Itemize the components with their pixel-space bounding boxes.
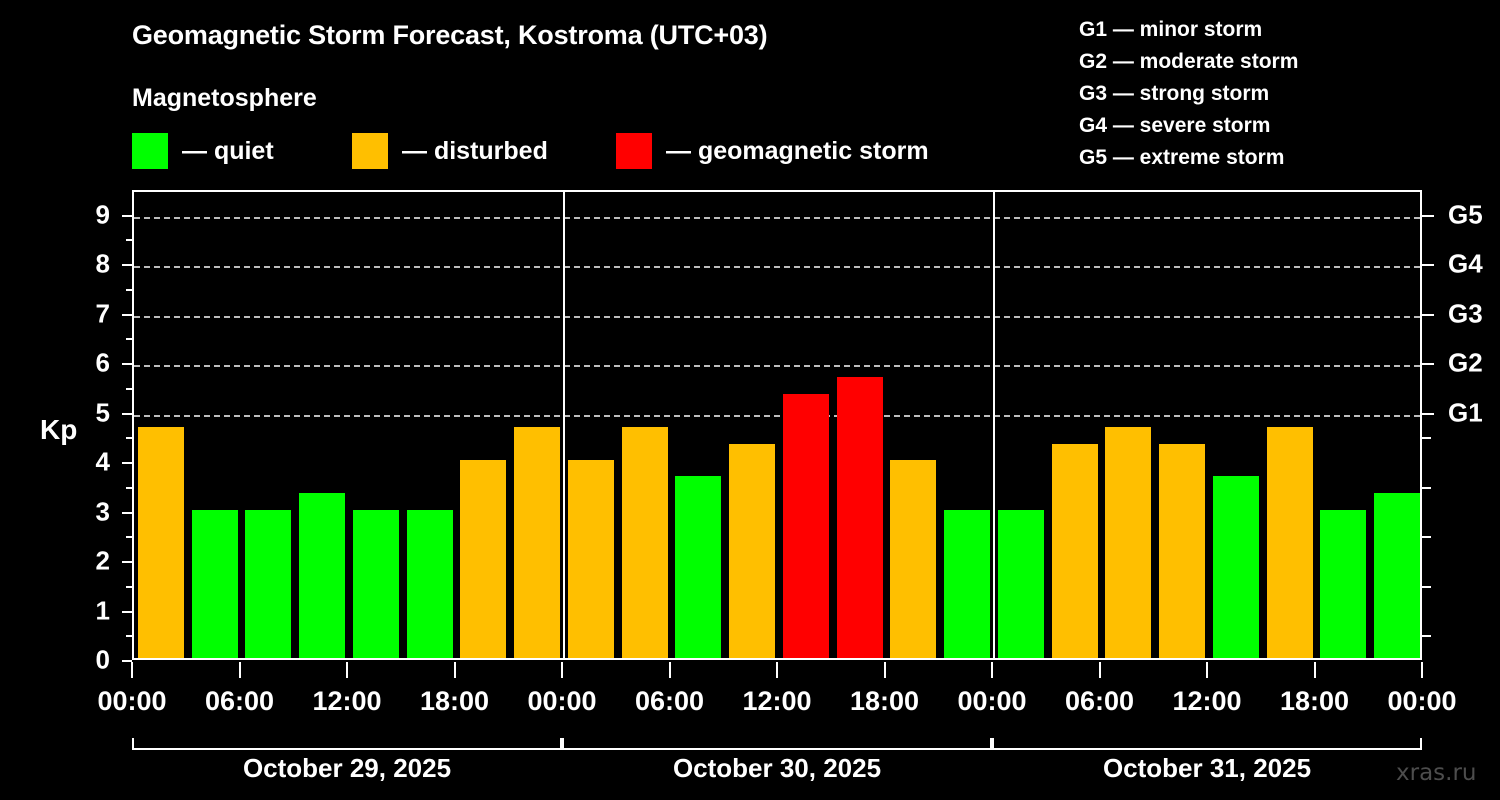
- gridline-kp-6: [134, 365, 1420, 367]
- y-tick-mark-4: [122, 462, 132, 464]
- g-tick-mark-G1: [1422, 413, 1434, 415]
- y-tick-mark-5: [122, 413, 132, 415]
- y-tick-label-7: 7: [70, 298, 110, 329]
- y-tick-mark-3: [122, 512, 132, 514]
- bar-day3-0300[interactable]: [1052, 444, 1098, 658]
- bar-day2-1800[interactable]: [890, 460, 936, 658]
- x-tick-mark-2: [346, 662, 348, 678]
- x-tick-mark-4: [561, 662, 563, 678]
- bar-day2-0900[interactable]: [729, 444, 775, 658]
- g-minor-tick-3.5: [1422, 487, 1431, 489]
- x-tick-mark-1: [239, 662, 241, 678]
- bar-day3-1500[interactable]: [1267, 427, 1313, 658]
- y-minor-tick-0.5: [126, 635, 132, 637]
- bar-day3-1200[interactable]: [1213, 476, 1259, 658]
- x-tick-label-7: 18:00: [850, 686, 919, 717]
- g-tick-mark-G4: [1422, 264, 1434, 266]
- y-tick-label-2: 2: [70, 546, 110, 577]
- x-tick-label-9: 06:00: [1065, 686, 1134, 717]
- x-tick-label-6: 12:00: [742, 686, 811, 717]
- bar-day2-0600[interactable]: [675, 476, 721, 658]
- legend-swatch-disturbed-icon: [352, 133, 388, 169]
- x-tick-label-4: 00:00: [527, 686, 596, 717]
- y-minor-tick-2.5: [126, 536, 132, 538]
- x-tick-label-3: 18:00: [420, 686, 489, 717]
- bar-day1-1800[interactable]: [460, 460, 506, 658]
- bar-day2-1200[interactable]: [783, 394, 829, 658]
- x-tick-label-10: 12:00: [1172, 686, 1241, 717]
- x-tick-label-11: 18:00: [1280, 686, 1349, 717]
- y-tick-mark-6: [122, 363, 132, 365]
- bar-day1-2100[interactable]: [514, 427, 560, 658]
- y-tick-label-0: 0: [70, 645, 110, 676]
- y-tick-label-3: 3: [70, 496, 110, 527]
- y-tick-mark-1: [122, 611, 132, 613]
- legend-label-storm: — geomagnetic storm: [666, 137, 929, 166]
- bar-day3-0600[interactable]: [1105, 427, 1151, 658]
- bar-day3-0000[interactable]: [998, 510, 1044, 658]
- day-label-3: October 31, 2025: [1103, 753, 1311, 784]
- x-tick-mark-11: [1314, 662, 1316, 678]
- bar-day1-1500[interactable]: [407, 510, 453, 658]
- day-divider-2: [993, 192, 995, 658]
- legend-swatch-quiet-icon: [132, 133, 168, 169]
- bar-day1-0600[interactable]: [245, 510, 291, 658]
- x-tick-mark-12: [1421, 662, 1423, 678]
- g-scale-row-g4: G4 — severe storm: [1079, 110, 1298, 142]
- x-tick-label-1: 06:00: [205, 686, 274, 717]
- y-minor-tick-8.5: [126, 239, 132, 241]
- y-axis-label: Kp: [40, 414, 77, 446]
- bar-day1-1200[interactable]: [353, 510, 399, 658]
- legend-label-quiet: — quiet: [182, 137, 274, 166]
- magnetosphere-heading: Magnetosphere: [132, 84, 317, 113]
- g-scale-row-g1: G1 — minor storm: [1079, 14, 1298, 46]
- g-tick-label-G3: G3: [1448, 298, 1483, 329]
- y-minor-tick-5.5: [126, 388, 132, 390]
- legend-entry-storm: — geomagnetic storm: [616, 131, 929, 171]
- day-label-2: October 30, 2025: [673, 753, 881, 784]
- y-minor-tick-1.5: [126, 586, 132, 588]
- x-tick-label-8: 00:00: [957, 686, 1026, 717]
- day-label-1: October 29, 2025: [243, 753, 451, 784]
- x-tick-mark-5: [669, 662, 671, 678]
- x-tick-label-12: 00:00: [1387, 686, 1456, 717]
- watermark: xras.ru: [1396, 760, 1477, 786]
- plot-area: [134, 192, 1420, 658]
- g-tick-label-G5: G5: [1448, 199, 1483, 230]
- legend-swatch-storm-icon: [616, 133, 652, 169]
- y-tick-mark-9: [122, 215, 132, 217]
- x-tick-mark-7: [884, 662, 886, 678]
- day-bracket-1: [132, 738, 562, 750]
- bar-day3-0900[interactable]: [1159, 444, 1205, 658]
- g-tick-label-G2: G2: [1448, 348, 1483, 379]
- day-bracket-3: [992, 738, 1422, 750]
- g-tick-mark-G5: [1422, 215, 1434, 217]
- legend-entry-disturbed: — disturbed: [352, 131, 548, 171]
- g-scale-row-g3: G3 — strong storm: [1079, 78, 1298, 110]
- g-tick-label-G4: G4: [1448, 249, 1483, 280]
- x-tick-mark-9: [1099, 662, 1101, 678]
- y-tick-label-4: 4: [70, 447, 110, 478]
- bar-day3-1800[interactable]: [1320, 510, 1366, 658]
- gridline-kp-5: [134, 415, 1420, 417]
- x-tick-label-0: 00:00: [97, 686, 166, 717]
- day-bracket-2: [562, 738, 992, 750]
- g-scale-row-g5: G5 — extreme storm: [1079, 142, 1298, 174]
- g-minor-tick-4.5: [1422, 437, 1431, 439]
- g-tick-label-G1: G1: [1448, 397, 1483, 428]
- page-title: Geomagnetic Storm Forecast, Kostroma (UT…: [132, 20, 767, 51]
- y-tick-label-1: 1: [70, 595, 110, 626]
- x-tick-mark-8: [991, 662, 993, 678]
- y-minor-tick-4.5: [126, 437, 132, 439]
- legend-label-disturbed: — disturbed: [402, 137, 548, 166]
- g-minor-tick-1.5: [1422, 586, 1431, 588]
- y-minor-tick-7.5: [126, 289, 132, 291]
- x-tick-label-5: 06:00: [635, 686, 704, 717]
- bar-day2-0000[interactable]: [568, 460, 614, 658]
- g-minor-tick-0.5: [1422, 635, 1431, 637]
- bar-day2-1500[interactable]: [837, 377, 883, 658]
- y-minor-tick-6.5: [126, 338, 132, 340]
- y-minor-tick-3.5: [126, 487, 132, 489]
- x-tick-mark-0: [131, 662, 133, 678]
- bar-day1-0900[interactable]: [299, 493, 345, 658]
- x-tick-label-2: 12:00: [312, 686, 381, 717]
- g-tick-mark-G2: [1422, 363, 1434, 365]
- g-minor-tick-2.5: [1422, 536, 1431, 538]
- bar-day3-2100[interactable]: [1374, 493, 1420, 658]
- g-scale-legend: G1 — minor stormG2 — moderate stormG3 — …: [1079, 14, 1298, 174]
- y-tick-mark-2: [122, 561, 132, 563]
- gridline-kp-9: [134, 217, 1420, 219]
- y-tick-mark-7: [122, 314, 132, 316]
- gridline-kp-8: [134, 266, 1420, 268]
- bar-day2-2100[interactable]: [944, 510, 990, 658]
- bar-day1-0000[interactable]: [138, 427, 184, 658]
- g-tick-mark-G3: [1422, 314, 1434, 316]
- gridline-kp-7: [134, 316, 1420, 318]
- y-tick-label-9: 9: [70, 199, 110, 230]
- y-tick-mark-8: [122, 264, 132, 266]
- legend-entry-quiet: — quiet: [132, 131, 274, 171]
- x-tick-mark-10: [1206, 662, 1208, 678]
- x-tick-mark-6: [776, 662, 778, 678]
- day-divider-1: [563, 192, 565, 658]
- bar-day1-0300[interactable]: [192, 510, 238, 658]
- y-tick-label-8: 8: [70, 249, 110, 280]
- x-tick-mark-3: [454, 662, 456, 678]
- y-tick-label-6: 6: [70, 348, 110, 379]
- bar-day2-0300[interactable]: [622, 427, 668, 658]
- plot-frame: [132, 190, 1422, 660]
- g-scale-row-g2: G2 — moderate storm: [1079, 46, 1298, 78]
